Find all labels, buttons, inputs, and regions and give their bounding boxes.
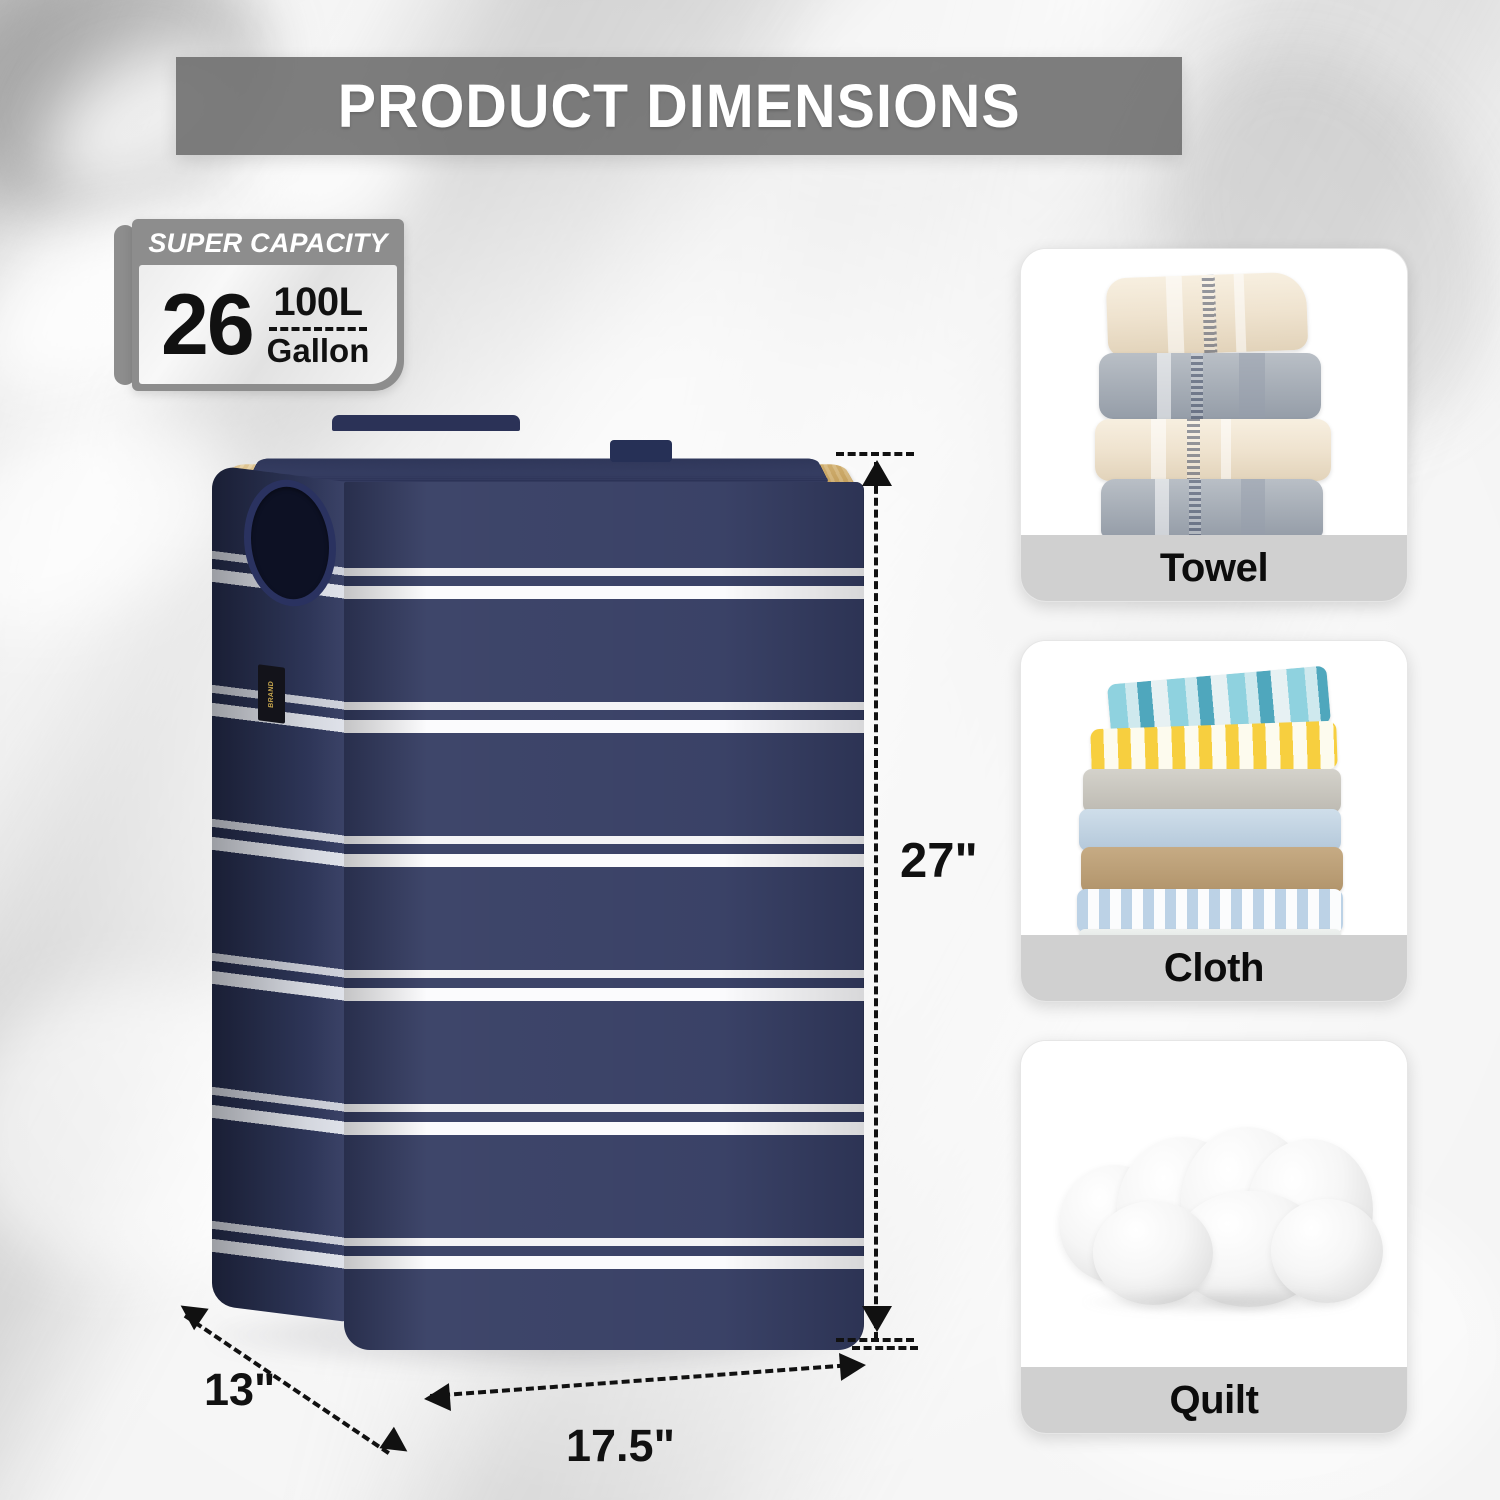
lid-pull-tab [610,440,672,462]
towel-item [1095,419,1331,481]
quilt-illustration [1021,1041,1407,1367]
capacity-divider [269,327,367,331]
badge-heading-bar: SUPER CAPACITY [132,219,404,267]
page-title: PRODUCT DIMENSIONS [338,76,1021,137]
quilt-ground-shadow [1081,1289,1361,1315]
towel-item [1101,479,1323,535]
cloth-item [1079,809,1341,851]
hamper-front-panel [344,482,864,1350]
brand-tag: BRAND [258,664,285,723]
height-arrow-down-icon [862,1306,892,1332]
depth-label: 13" [204,1364,275,1416]
towel-illustration [1021,249,1407,535]
card-label-text: Quilt [1169,1378,1258,1423]
height-label: 27" [900,833,978,889]
width-label: 17.5" [566,1420,675,1472]
height-arrow-up-icon [862,460,892,486]
product-hamper-image: BRAND [196,420,876,1380]
towel-item [1099,353,1321,419]
cloth-item [1083,769,1341,813]
towel-item [1106,272,1309,357]
capacity-badge: SUPER CAPACITY 26 100L Gallon [114,219,404,391]
front-stripe-pattern [344,482,864,1350]
cloth-item [1077,889,1343,933]
width-arrow-left-icon [423,1383,451,1413]
height-dimension-line [874,462,878,1340]
card-label-text: Towel [1160,546,1268,591]
capacity-value: 26 [161,282,253,368]
use-case-card-quilt: Quilt [1020,1040,1408,1434]
cloth-item [1081,847,1343,893]
use-case-card-cloth: Cloth [1020,640,1408,1002]
badge-body: SUPER CAPACITY 26 100L Gallon [132,219,404,391]
height-top-tick [836,452,914,456]
card-label-bar: Quilt [1021,1367,1407,1433]
capacity-gallon-label: Gallon [267,334,370,368]
brand-tag-text: BRAND [268,680,275,708]
page-title-banner: PRODUCT DIMENSIONS [176,57,1182,155]
card-label-text: Cloth [1164,946,1264,991]
lid-hinge-strip [332,415,520,431]
card-label-bar: Towel [1021,535,1407,601]
use-case-card-towel: Towel [1020,248,1408,602]
capacity-liters: 100L [273,282,362,323]
quilt-lobe [1271,1199,1383,1303]
card-label-bar: Cloth [1021,935,1407,1001]
badge-heading-text: SUPER CAPACITY [148,228,387,259]
capacity-unit-group: 100L Gallon [267,282,370,367]
width-arrow-right-icon [839,1351,867,1381]
cloth-illustration [1021,641,1407,935]
badge-inner-panel: 26 100L Gallon [139,265,397,384]
width-right-tick [852,1346,918,1350]
